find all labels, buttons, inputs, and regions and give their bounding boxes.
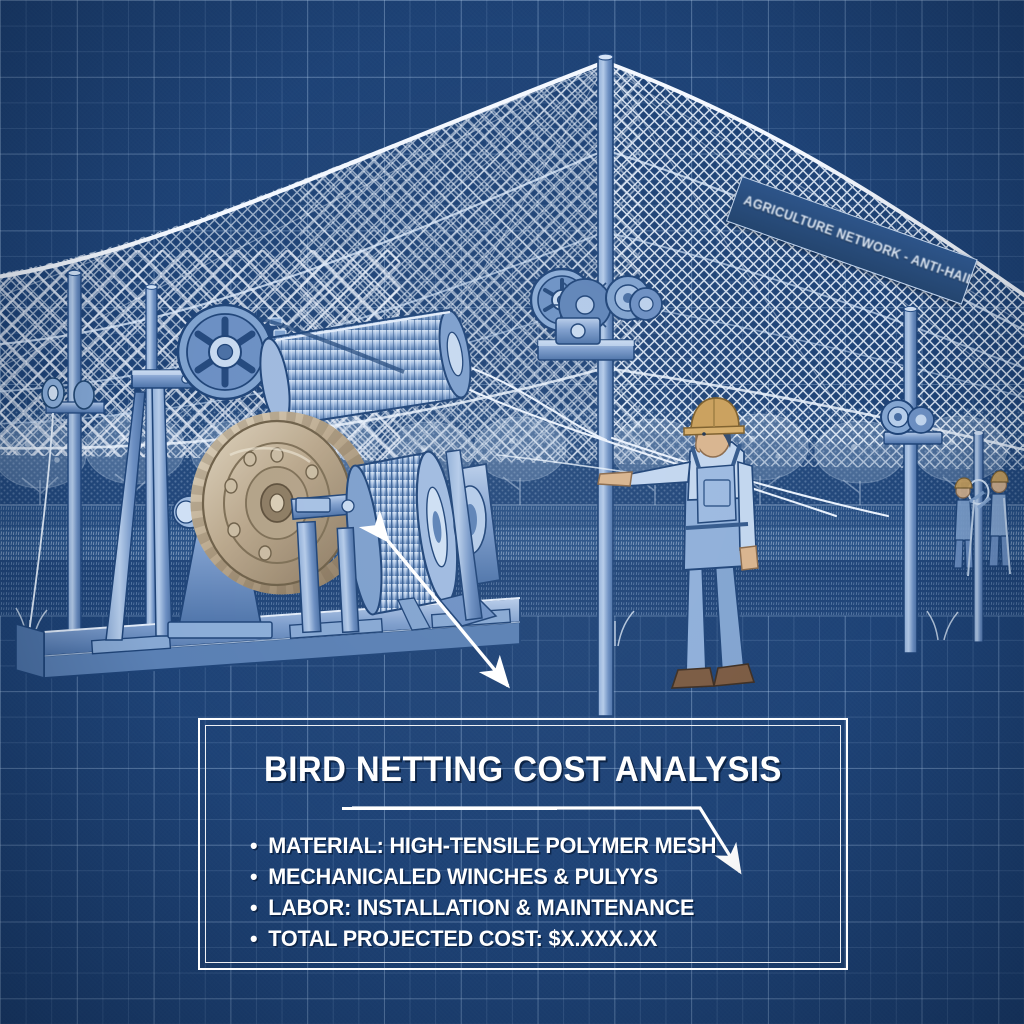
blueprint-illustration: AGRICULTURE NETWORK - ANTI-HAIL & BIRD-P… (0, 0, 1024, 1024)
cost-bullet-text: TOTAL PROJECTED COST: $X.XXX.XX (268, 926, 657, 951)
cost-bullet-list: •MATERIAL: HIGH-TENSILE POLYMER MESH •ME… (250, 830, 814, 954)
cost-analysis-panel-inner: BIRD NETTING COST ANALYSIS •MATERIAL: HI… (205, 725, 841, 963)
title-underline-rule (342, 807, 557, 810)
cost-analysis-panel: BIRD NETTING COST ANALYSIS •MATERIAL: HI… (198, 718, 848, 970)
bullet-glyph: • (250, 861, 268, 892)
cost-bullet-item: •LABOR: INSTALLATION & MAINTENANCE (250, 892, 791, 923)
cost-bullet-text: LABOR: INSTALLATION & MAINTENANCE (268, 895, 694, 920)
cost-bullet-item: •MECHANICALED WINCHES & PULYYS (250, 861, 791, 892)
cost-bullet-item: •MATERIAL: HIGH-TENSILE POLYMER MESH (250, 830, 791, 861)
bullet-glyph: • (250, 923, 268, 954)
bullet-glyph: • (250, 892, 268, 923)
cost-bullet-text: MATERIAL: HIGH-TENSILE POLYMER MESH (268, 833, 716, 858)
cost-bullet-item: •TOTAL PROJECTED COST: $X.XXX.XX (250, 923, 791, 954)
cost-bullet-text: MECHANICALED WINCHES & PULYYS (268, 864, 658, 889)
panel-title: BIRD NETTING COST ANALYSIS (249, 752, 796, 787)
bullet-glyph: • (250, 830, 268, 861)
